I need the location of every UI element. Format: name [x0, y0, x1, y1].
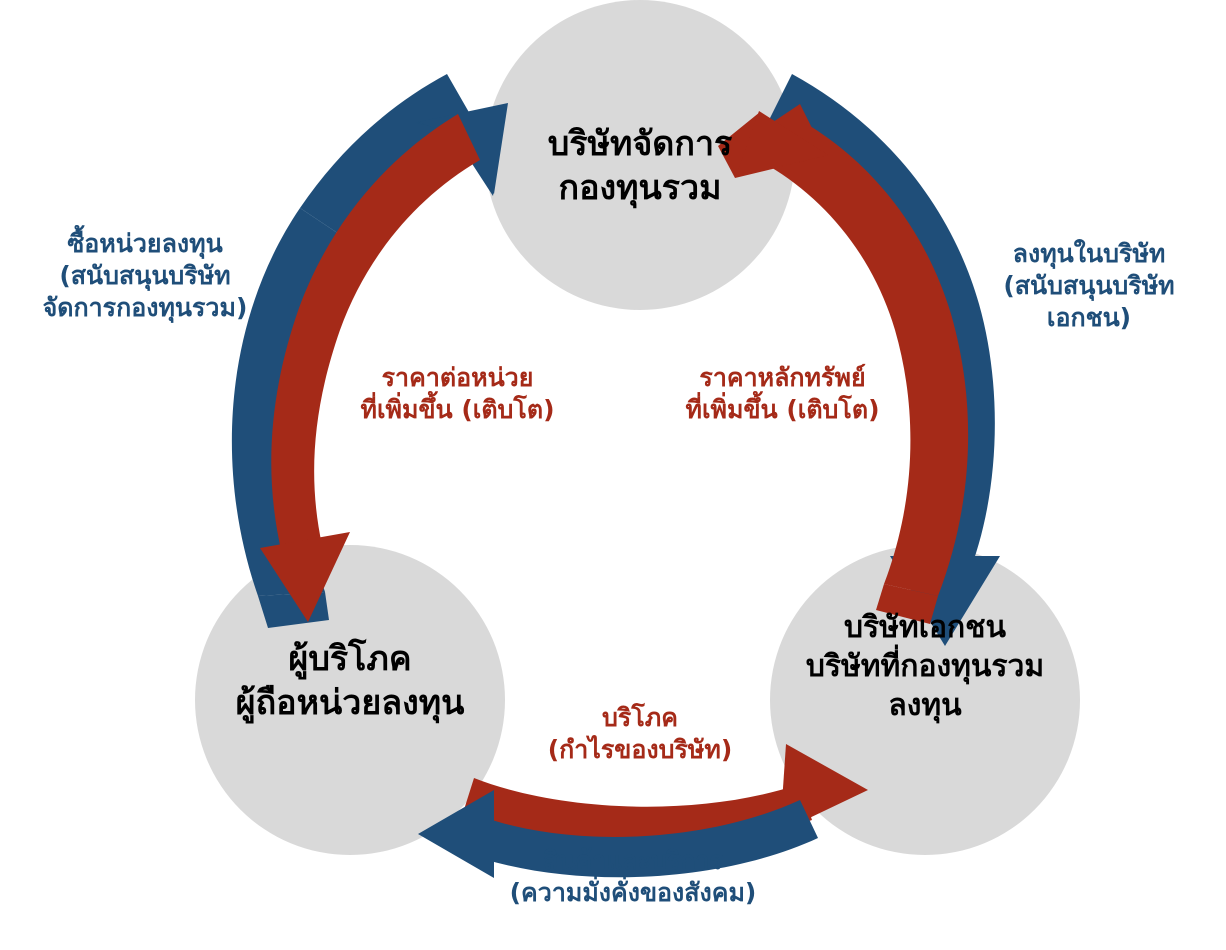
edge-line: (กำไรของบริษัท): [495, 734, 785, 766]
edge-line: ซื้อหน่วยลงทุน: [0, 228, 290, 260]
node-line: ผู้บริโภค: [150, 637, 550, 681]
edge-label-bottom-inner: บริโภค (กำไรของบริษัท): [495, 702, 785, 766]
edge-line: ราคาต่อหน่วย: [330, 362, 585, 394]
edge-line: (ความมั่งคั่งของสังคม): [443, 877, 823, 909]
edge-line: จัดการกองทุนรวม): [0, 292, 290, 324]
edge-line: บริโภค: [495, 702, 785, 734]
edge-line: (สนับสนุนบริษัท: [952, 270, 1226, 302]
node-label-private-company: บริษัทเอกชน บริษัทที่กองทุนรวม ลงทุน: [725, 608, 1125, 725]
node-line: ลงทุน: [725, 686, 1125, 725]
edge-line: ที่เพิ่มขึ้น (เติบโต): [330, 394, 585, 426]
node-label-fund-management-company: บริษัทจัดการ กองทุนรวม: [440, 122, 840, 210]
node-line: บริษัทจัดการ: [440, 122, 840, 166]
edge-label-right-outer: ลงทุนในบริษัท (สนับสนุนบริษัท เอกชน): [952, 238, 1226, 334]
edge-label-bottom-outer: สินค้าและบริการ (ความมั่งคั่งของสังคม): [443, 845, 823, 909]
diagram-canvas: บริษัทจัดการ กองทุนรวม ผู้บริโภค ผู้ถือห…: [0, 0, 1226, 950]
node-line: บริษัทที่กองทุนรวม: [725, 647, 1125, 686]
node-line: บริษัทเอกชน: [725, 608, 1125, 647]
edge-line: สินค้าและบริการ: [443, 845, 823, 877]
node-line: กองทุนรวม: [440, 166, 840, 210]
node-label-consumer-unitholder: ผู้บริโภค ผู้ถือหน่วยลงทุน: [150, 637, 550, 725]
edge-line: ลงทุนในบริษัท: [952, 238, 1226, 270]
edge-line: ที่เพิ่มขึ้น (เติบโต): [655, 394, 910, 426]
edge-line: (สนับสนุนบริษัท: [0, 260, 290, 292]
edge-line: เอกชน): [952, 302, 1226, 334]
edge-line: ราคาหลักทรัพย์: [655, 362, 910, 394]
edge-label-left-outer: ซื้อหน่วยลงทุน (สนับสนุนบริษัท จัดการกอง…: [0, 228, 290, 324]
node-line: ผู้ถือหน่วยลงทุน: [150, 681, 550, 725]
edge-label-left-inner: ราคาต่อหน่วย ที่เพิ่มขึ้น (เติบโต): [330, 362, 585, 426]
edge-label-right-inner: ราคาหลักทรัพย์ ที่เพิ่มขึ้น (เติบโต): [655, 362, 910, 426]
